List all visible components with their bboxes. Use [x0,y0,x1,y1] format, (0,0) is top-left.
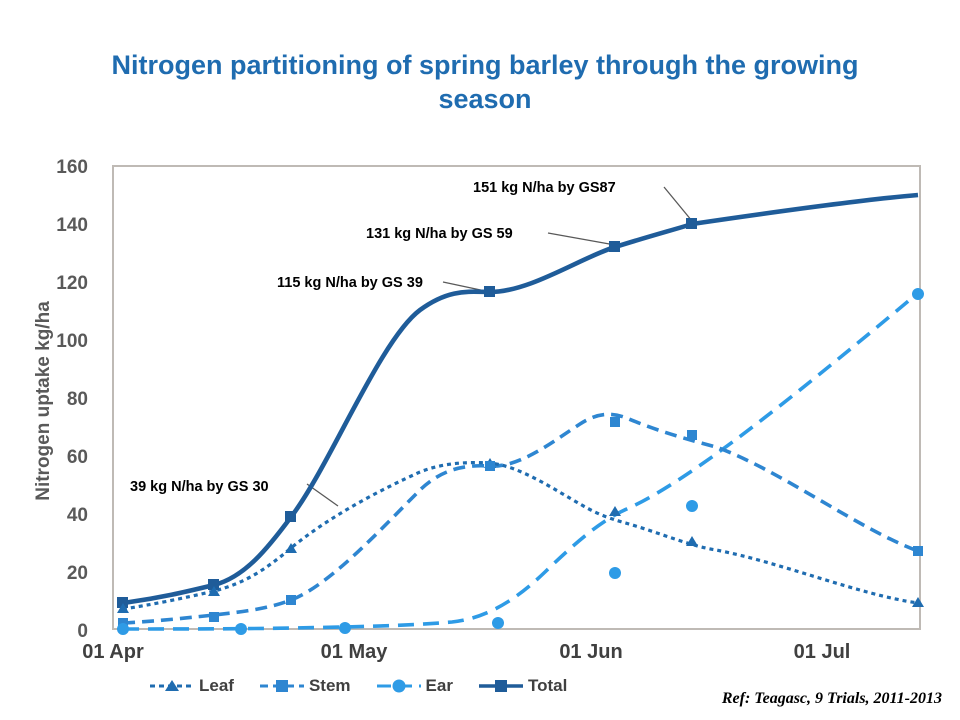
marker-leaf-3 [484,458,496,468]
legend-item-stem[interactable]: Stem [260,676,351,696]
series-line-stem [123,414,918,623]
marker-leaf-4 [609,506,621,516]
legend-item-ear[interactable]: Ear [377,676,453,696]
marker-total-1 [208,579,219,590]
marker-total-0 [117,597,128,608]
marker-leaf-5 [686,536,698,546]
marker-leaf-1 [208,586,220,596]
y-tick-0: 0 [34,621,88,643]
y-tick-60: 60 [34,447,88,469]
x-tick-01-jun: 01 Jun [521,641,661,664]
y-tick-120: 120 [34,273,88,295]
legend-label-total: Total [528,676,567,696]
chart-title: Nitrogen partitioning of spring barley t… [90,48,880,116]
leader-line-gs59 [548,233,615,245]
legend-label-ear: Ear [426,676,453,696]
leader-line-gs39 [443,282,490,292]
marker-leaf-6 [912,597,924,607]
marker-total-5 [686,218,697,229]
marker-ear-1 [235,623,247,635]
marker-stem-0 [118,618,128,628]
marker-total-3 [484,286,495,297]
y-tick-20: 20 [34,563,88,585]
marker-ear-4 [609,567,621,579]
marker-stem-2 [286,595,296,605]
source-note: Ref: Teagasc, 9 Trials, 2011-2013 [722,690,942,708]
legend-key-total-square-icon [479,678,523,694]
marker-total-2 [285,511,296,522]
y-tick-40: 40 [34,505,88,527]
marker-stem-3 [485,461,495,471]
x-tick-01-apr: 01 Apr [43,641,183,664]
y-tick-160: 160 [34,157,88,179]
legend-item-leaf[interactable]: Leaf [150,676,234,696]
marker-ear-0 [117,623,129,635]
marker-ear-5 [686,500,698,512]
series-line-ear [123,293,918,629]
x-tick-01-jul: 01 Jul [752,641,892,664]
marker-leaf-0 [117,603,129,613]
marker-ear-6 [912,288,924,300]
marker-stem-4 [610,417,620,427]
chart-legend: Leaf Stem Ear [150,676,670,696]
legend-label-stem: Stem [309,676,351,696]
marker-stem-6 [913,546,923,556]
leader-line-gs87 [664,187,692,221]
marker-total-4 [609,241,620,252]
marker-ear-2 [339,622,351,634]
annotation-gs39: 115 kg N/ha by GS 39 [277,275,423,291]
legend-key-leaf-triangle-icon [150,678,194,694]
marker-leaf-2 [285,543,297,553]
annotation-gs30: 39 kg N/ha by GS 30 [130,479,269,495]
marker-stem-5 [687,430,697,440]
annotation-gs87: 151 kg N/ha by GS87 [473,180,616,196]
annotation-gs59: 131 kg N/ha by GS 59 [366,226,513,242]
x-tick-01-may: 01 May [284,641,424,664]
legend-item-total[interactable]: Total [479,676,567,696]
chart-container: Nitrogen partitioning of spring barley t… [0,0,960,720]
marker-ear-3 [492,617,504,629]
y-tick-100: 100 [34,331,88,353]
leader-line-gs30 [307,484,338,506]
plot-frame [113,166,920,629]
legend-label-leaf: Leaf [199,676,234,696]
series-line-total [123,195,918,603]
legend-key-ear-circle-icon [377,678,421,694]
legend-key-stem-square-icon [260,678,304,694]
marker-stem-1 [209,612,219,622]
y-tick-80: 80 [34,389,88,411]
y-tick-140: 140 [34,215,88,237]
